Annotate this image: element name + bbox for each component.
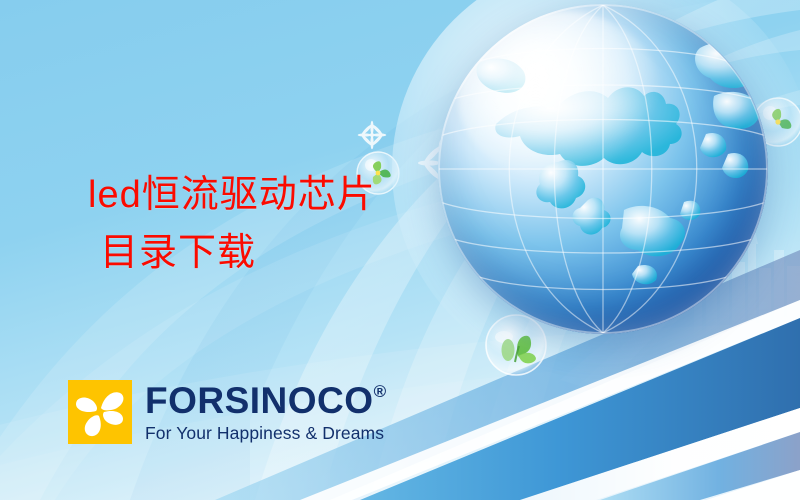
logo-wordmark: FORSINOCO ® (145, 382, 387, 419)
headline-line-1: led恒流驱动芯片 (88, 174, 376, 216)
latitude-lines (439, 49, 767, 290)
logo-text-block: FORSINOCO ® For Your Happiness & Dreams (145, 382, 387, 443)
logo-tagline: For Your Happiness & Dreams (145, 425, 387, 443)
headline-text: led恒流驱动芯片 目录下载 (88, 166, 376, 282)
globe-highlight (458, 11, 663, 183)
earth-globe (438, 4, 768, 334)
diagonal-ribbon-bands (215, 250, 800, 500)
bubble-sprout (486, 315, 546, 375)
globe-map-layer (438, 4, 768, 334)
registered-trademark-icon: ® (374, 383, 387, 400)
forsinoco-flower-mark (68, 380, 132, 444)
flower-petals (76, 392, 123, 436)
promo-banner: led恒流驱动芯片 目录下载 FORSINOCO ® For Your Happ… (0, 0, 800, 500)
logo-wordmark-text: FORSINOCO (145, 382, 374, 419)
globe-sphere (438, 4, 768, 334)
city-skyline-silhouette (694, 222, 800, 347)
headline-line-2: 目录下载 (88, 224, 376, 282)
globe-glow (392, 0, 800, 380)
bubble-right-edge (754, 98, 800, 146)
company-logo: FORSINOCO ® For Your Happiness & Dreams (68, 380, 387, 444)
light-ray-group (540, 262, 716, 430)
sparkle-star-upper (418, 140, 464, 186)
sparkle-star-lower (358, 121, 387, 150)
globe-rim (438, 4, 768, 334)
continents (477, 42, 765, 285)
longitude-lines (509, 5, 697, 333)
